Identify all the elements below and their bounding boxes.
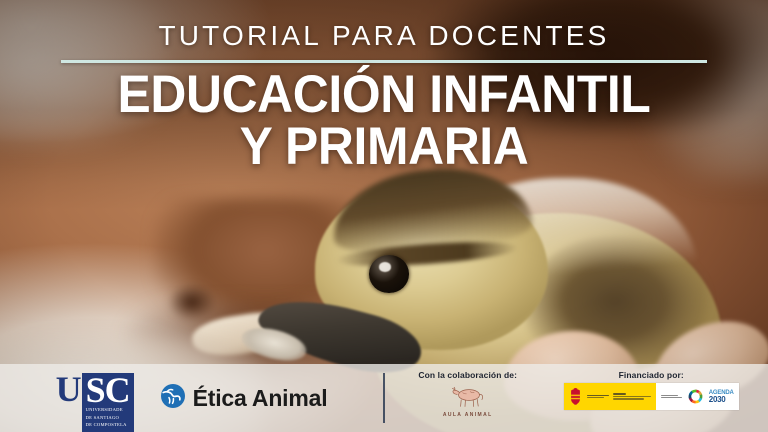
etica-animal-logo[interactable]: Ética Animal (160, 383, 328, 414)
kicker-text: TUTORIAL PARA DOCENTES (0, 22, 768, 50)
government-funding-logo[interactable]: AGENDA 2030 (564, 383, 739, 410)
footer-vertical-divider (383, 373, 385, 423)
usc-letter-u: U (56, 373, 82, 406)
cow-icon (448, 383, 488, 411)
sdg-wheel-icon (687, 388, 704, 405)
usc-logo[interactable]: U SC UNIVERSIDADE DE SANTIAGO DE COMPOST… (56, 373, 134, 423)
footer-primary-logos: U SC UNIVERSIDADE DE SANTIAGO DE COMPOST… (0, 364, 383, 432)
duckling-eye (369, 255, 408, 292)
funding-label: Financiado por: (619, 370, 684, 380)
footer-bar: U SC UNIVERSIDADE DE SANTIAGO DE COMPOST… (0, 364, 768, 432)
aula-animal-name: AULA ANIMAL (443, 412, 493, 418)
agenda-year: 2030 (709, 396, 734, 404)
etica-animal-name: Ética Animal (193, 385, 328, 412)
title-line-1: EDUCACIÓN INFANTIL (118, 65, 651, 124)
usc-badge: SC UNIVERSIDADE DE SANTIAGO DE COMPOSTEL… (82, 373, 134, 432)
page-title: EDUCACIÓN INFANTIL Y PRIMARIA (23, 69, 745, 173)
usc-subtitle-line-2: DE SANTIAGO (86, 415, 130, 423)
agenda-2030-text: AGENDA 2030 (709, 390, 734, 404)
footer-credits: Con la colaboración de: (385, 364, 768, 432)
aula-animal-logo[interactable]: AULA ANIMAL (443, 383, 493, 418)
spain-coat-of-arms-icon (568, 388, 583, 406)
ministerio-text-lines (613, 393, 651, 399)
headline-block: TUTORIAL PARA DOCENTES EDUCACIÓN INFANTI… (0, 22, 768, 173)
gobierno-text-lines (587, 395, 609, 399)
usc-subtitle-line-3: DE COMPOSTELA (86, 422, 130, 430)
agenda-2030-band: AGENDA 2030 (656, 383, 739, 410)
usc-subtitle-line-1: UNIVERSIDADE (86, 407, 130, 415)
title-divider-rule (61, 60, 707, 63)
gobierno-de-espana-band (564, 383, 656, 410)
collaboration-block: Con la colaboración de: (418, 364, 517, 432)
globe-animal-icon (160, 383, 186, 414)
title-line-2: Y PRIMARIA (23, 121, 745, 173)
usc-letters-sc: SC (86, 374, 130, 407)
agenda-secretary-lines (661, 395, 682, 399)
funding-block: Financiado por: (564, 364, 739, 432)
collaboration-label: Con la colaboración de: (418, 370, 517, 380)
poster-slide: TUTORIAL PARA DOCENTES EDUCACIÓN INFANTI… (0, 0, 768, 432)
